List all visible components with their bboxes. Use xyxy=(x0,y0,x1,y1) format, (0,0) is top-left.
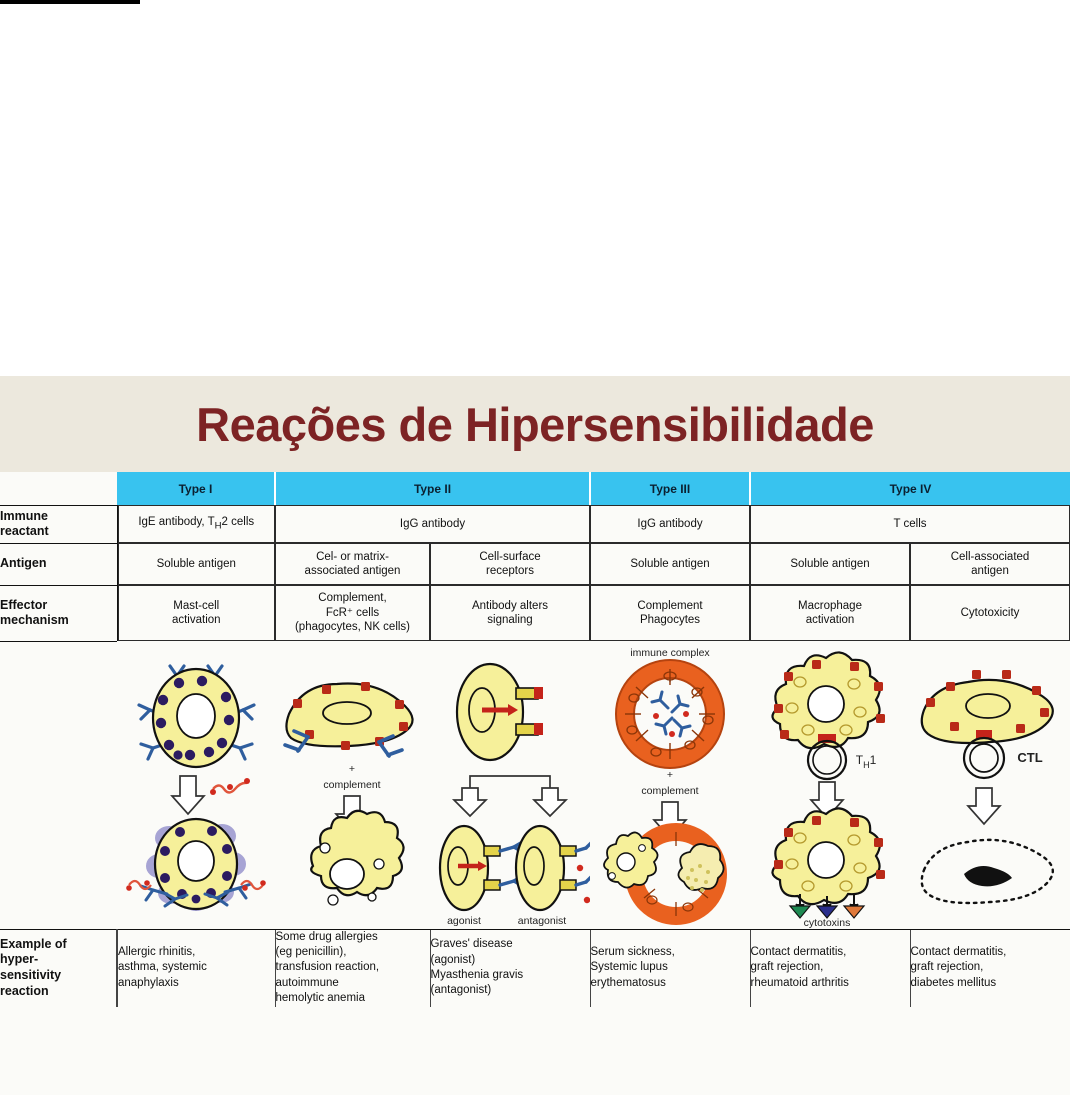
column-header-type-4[interactable]: Type IV xyxy=(750,472,1070,505)
immune-reactant-type1-box: IgE antibody, TH2 cells xyxy=(118,505,276,543)
type2b-antagonist-caption: antagonist xyxy=(518,915,567,927)
antigen-type4b-text: Cell-associated antigen xyxy=(951,550,1030,579)
antigen-type3-box: Soluble antigen xyxy=(590,543,750,585)
diagram-row-label-blank xyxy=(0,641,117,929)
example-type1-text: Allergic rhinitis, asthma, systemic anap… xyxy=(118,946,207,989)
type3-complement-caption: complement xyxy=(641,785,698,797)
antigen-type4a-text: Soluble antigen xyxy=(790,557,869,571)
example-type2b-cell: Graves' disease (agonist) Myasthenia gra… xyxy=(430,929,590,1007)
type4a-diagram-svg: TH1 xyxy=(750,642,910,928)
antigen-type3-text: Soluble antigen xyxy=(630,557,709,571)
type4b-diagram-svg: CTL xyxy=(910,642,1070,928)
cell-effector-type2a: Complement, FcR⁺ cells (phagocytes, NK c… xyxy=(275,585,430,641)
row-immune-reactant: Immune reactant IgE antibody, TH2 cells … xyxy=(0,505,1070,543)
type1-diagram-svg xyxy=(117,642,275,928)
example-type3-cell: Serum sickness, Systemic lupus erythemat… xyxy=(590,929,750,1007)
type2a-complement-caption: complement xyxy=(323,779,380,791)
antigen-type4a-box: Soluble antigen xyxy=(750,543,910,585)
column-header-type-1[interactable]: Type I xyxy=(117,472,275,505)
cell-effector-type4a: Macrophage activation xyxy=(750,585,910,641)
table-header-row: Type I Type II Type III Type IV xyxy=(0,472,1070,505)
immune-reactant-type3-box: IgG antibody xyxy=(590,505,750,543)
hypersensitivity-figure: Type I Type II Type III Type IV Immune r… xyxy=(0,472,1070,1095)
effector-type1-box: Mast-cell activation xyxy=(118,585,276,641)
example-type2a-cell: Some drug allergies (eg penicillin), tra… xyxy=(275,929,430,1007)
example-type4a-text: Contact dermatitis, graft rejection, rhe… xyxy=(751,946,849,989)
type4b-ctl-label: CTL xyxy=(1017,750,1042,765)
antigen-type1-text: Soluble antigen xyxy=(157,557,236,571)
row-antigen: Antigen Soluble antigen Cel- or matrix- … xyxy=(0,543,1070,585)
example-type4a-cell: Contact dermatitis, graft rejection, rhe… xyxy=(750,929,910,1007)
cell-effector-type1: Mast-cell activation xyxy=(117,585,275,641)
effector-type4a-box: Macrophage activation xyxy=(750,585,910,641)
effector-type4b-text: Cytotoxicity xyxy=(961,606,1020,620)
row-label-effector-mechanism: Effector mechanism xyxy=(0,585,117,641)
diagram-type4a-macrophage-activation: TH1 xyxy=(750,641,910,929)
hypersensitivity-table: Type I Type II Type III Type IV Immune r… xyxy=(0,472,1070,1007)
type2b-agonist-caption: agonist xyxy=(447,915,481,927)
cell-antigen-type3: Soluble antigen xyxy=(590,543,750,585)
title-band: Reações de Hipersensibilidade xyxy=(0,376,1070,472)
column-header-type-3[interactable]: Type III xyxy=(590,472,750,505)
cell-antigen-type2b: Cell-surface receptors xyxy=(430,543,590,585)
effector-type4b-box: Cytotoxicity xyxy=(910,585,1070,641)
cell-immune-reactant-type2: IgG antibody xyxy=(275,505,590,543)
row-label-antigen: Antigen xyxy=(0,543,117,585)
row-label-example: Example of hyper- sensitivity reaction xyxy=(0,929,117,1007)
row-diagrams: + complement xyxy=(0,641,1070,929)
example-type4b-text: Contact dermatitis, graft rejection, dia… xyxy=(911,946,1007,989)
immune-reactant-type2-text: IgG antibody xyxy=(400,517,465,531)
cell-effector-type3: Complement Phagocytes xyxy=(590,585,750,641)
immune-reactant-type2-box: IgG antibody xyxy=(275,505,590,543)
antigen-type2a-box: Cel- or matrix- associated antigen xyxy=(275,543,430,585)
antigen-type2a-text: Cel- or matrix- associated antigen xyxy=(305,550,401,579)
cell-effector-type2b: Antibody alters signaling xyxy=(430,585,590,641)
effector-type2b-box: Antibody alters signaling xyxy=(430,585,590,641)
effector-type2a-box: Complement, FcR⁺ cells (phagocytes, NK c… xyxy=(275,585,430,641)
diagram-type2a-complement-fcr: + complement xyxy=(275,641,430,929)
cell-antigen-type4b: Cell-associated antigen xyxy=(910,543,1070,585)
antigen-type2b-box: Cell-surface receptors xyxy=(430,543,590,585)
effector-type4a-text: Macrophage activation xyxy=(798,599,862,628)
type2a-diagram-svg: + complement xyxy=(275,642,430,928)
effector-type3-box: Complement Phagocytes xyxy=(590,585,750,641)
example-type2b-text: Graves' disease (agonist) Myasthenia gra… xyxy=(431,938,524,996)
immune-reactant-type4-box: T cells xyxy=(750,505,1070,543)
antigen-type1-box: Soluble antigen xyxy=(118,543,276,585)
example-type3-text: Serum sickness, Systemic lupus erythemat… xyxy=(591,946,675,989)
diagram-type1-mast-cell-activation xyxy=(117,641,275,929)
immune-reactant-type4-text: T cells xyxy=(893,517,926,531)
type2a-plus-sign: + xyxy=(349,763,355,775)
effector-type2a-text: Complement, FcR⁺ cells (phagocytes, NK c… xyxy=(295,591,410,634)
antigen-type4b-box: Cell-associated antigen xyxy=(910,543,1070,585)
row-label-immune-reactant: Immune reactant xyxy=(0,505,117,543)
cell-antigen-type1: Soluble antigen xyxy=(117,543,275,585)
example-type2a-text: Some drug allergies (eg penicillin), tra… xyxy=(276,931,380,1005)
cell-antigen-type2a: Cel- or matrix- associated antigen xyxy=(275,543,430,585)
type3-plus-sign: + xyxy=(667,769,673,781)
type4a-th1-label: TH1 xyxy=(856,753,877,770)
cell-effector-type4b: Cytotoxicity xyxy=(910,585,1070,641)
diagram-type2b-receptor-signaling: agonist antagonist xyxy=(430,641,590,929)
diagram-type4b-cytotoxicity: CTL xyxy=(910,641,1070,929)
cell-immune-reactant-type3: IgG antibody xyxy=(590,505,750,543)
cell-immune-reactant-type4: T cells xyxy=(750,505,1070,543)
immune-reactant-type3-text: IgG antibody xyxy=(637,517,702,531)
column-header-type-2[interactable]: Type II xyxy=(275,472,590,505)
antigen-type2b-text: Cell-surface receptors xyxy=(479,550,540,579)
effector-type3-text: Complement Phagocytes xyxy=(637,599,702,628)
cell-antigen-type4a: Soluble antigen xyxy=(750,543,910,585)
type3-immune-complex-caption: immune complex xyxy=(630,647,710,659)
row-example: Example of hyper- sensitivity reaction A… xyxy=(0,929,1070,1007)
immune-reactant-type1-text: IgE antibody, TH2 cells xyxy=(138,515,254,532)
row-effector-mechanism: Effector mechanism Mast-cell activation … xyxy=(0,585,1070,641)
example-type4b-cell: Contact dermatitis, graft rejection, dia… xyxy=(910,929,1070,1007)
type3-diagram-svg: immune complex xyxy=(590,642,750,928)
cell-immune-reactant-type1: IgE antibody, TH2 cells xyxy=(117,505,275,543)
header-corner-blank xyxy=(0,472,117,505)
type4a-cytotoxins-caption: cytotoxins xyxy=(804,917,851,928)
example-type1-cell: Allergic rhinitis, asthma, systemic anap… xyxy=(117,929,275,1007)
type2b-diagram-svg: agonist antagonist xyxy=(430,642,590,928)
effector-type1-text: Mast-cell activation xyxy=(172,599,221,628)
diagram-type3-immune-complex: immune complex xyxy=(590,641,750,929)
effector-type2b-text: Antibody alters signaling xyxy=(472,599,548,628)
top-black-bar xyxy=(0,0,140,4)
page-title: Reações de Hipersensibilidade xyxy=(0,376,1070,472)
